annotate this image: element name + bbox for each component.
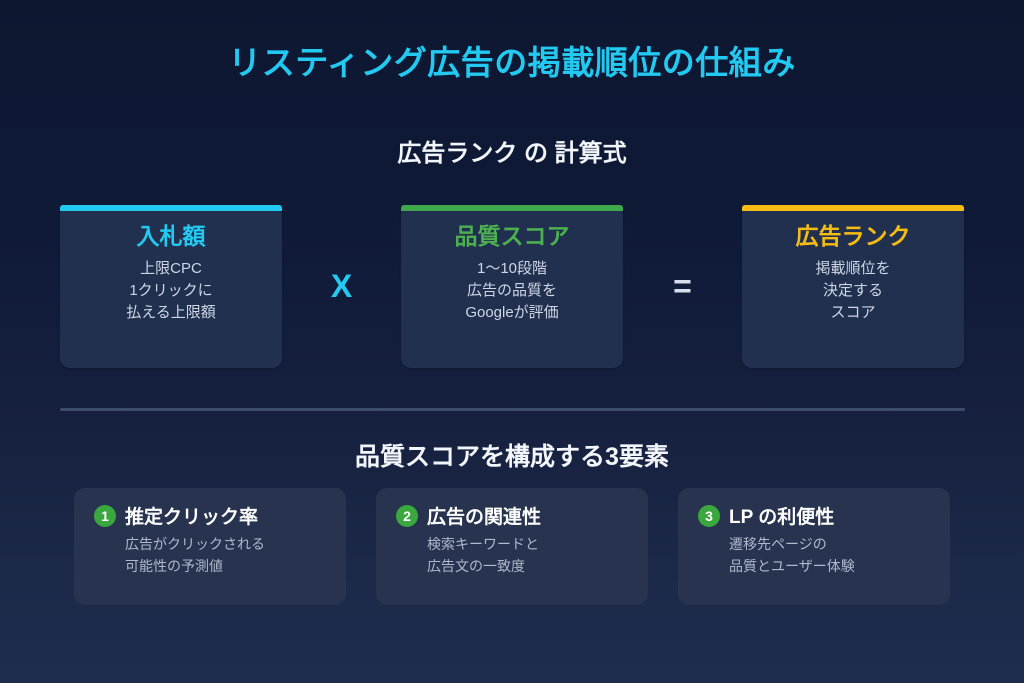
- quality-factor-card-list: 1 推定クリック率 広告がクリックされる 可能性の予測値 2 広告の関連性 検索…: [74, 488, 950, 605]
- formula-box-ad-rank-description: 掲載順位を 決定する スコア: [742, 258, 964, 324]
- formula-box-bid: 入札額 上限CPC 1クリックに 払える上限額: [60, 205, 282, 368]
- formula-box-ad-rank-accent-bar: [742, 205, 964, 211]
- quality-factor-card-landing-page-desc-line: 品質とユーザー体験: [729, 556, 930, 578]
- quality-factor-card-relevance-title: 広告の関連性: [427, 502, 541, 529]
- formula-box-quality-score-desc-line: Googleが評価: [401, 302, 623, 324]
- slide-root: リスティング広告の掲載順位の仕組み 広告ランク の 計算式 入札額 上限CPC …: [0, 0, 1024, 683]
- quality-factor-card-ctr: 1 推定クリック率 広告がクリックされる 可能性の予測値: [74, 488, 346, 605]
- formula-box-ad-rank-desc-line: 掲載順位を: [742, 258, 964, 280]
- formula-box-quality-score-description: 1〜10段階 広告の品質を Googleが評価: [401, 258, 623, 324]
- quality-factor-card-ctr-title: 推定クリック率: [125, 502, 258, 529]
- quality-factor-card-ctr-desc-line: 広告がクリックされる: [125, 534, 326, 556]
- number-badge-icon: 1: [94, 505, 116, 527]
- number-badge-icon: 2: [396, 505, 418, 527]
- quality-factor-card-relevance: 2 広告の関連性 検索キーワードと 広告文の一致度: [376, 488, 648, 605]
- formula-box-bid-heading: 入札額: [60, 222, 282, 251]
- formula-box-bid-desc-line: 1クリックに: [60, 280, 282, 302]
- quality-factor-card-relevance-header: 2 広告の関連性: [396, 502, 628, 529]
- factors-section-heading: 品質スコアを構成する3要素: [0, 437, 1024, 473]
- formula-box-bid-description: 上限CPC 1クリックに 払える上限額: [60, 258, 282, 324]
- operator-equals: =: [655, 205, 711, 368]
- number-badge-icon: 3: [698, 505, 720, 527]
- quality-factor-card-relevance-desc-line: 広告文の一致度: [427, 556, 628, 578]
- quality-factor-card-landing-page-header: 3 LP の利便性: [698, 502, 930, 529]
- quality-factor-card-ctr-desc-line: 可能性の予測値: [125, 556, 326, 578]
- formula-box-bid-desc-line: 払える上限額: [60, 302, 282, 324]
- quality-factor-card-ctr-header: 1 推定クリック率: [94, 502, 326, 529]
- quality-factor-card-ctr-description: 広告がクリックされる 可能性の予測値: [94, 534, 326, 577]
- formula-box-ad-rank-heading: 広告ランク: [742, 222, 964, 251]
- quality-factor-card-landing-page-desc-line: 遷移先ページの: [729, 534, 930, 556]
- formula-box-ad-rank-desc-line: 決定する: [742, 280, 964, 302]
- quality-factor-card-relevance-description: 検索キーワードと 広告文の一致度: [396, 534, 628, 577]
- formula-box-quality-score-desc-line: 広告の品質を: [401, 280, 623, 302]
- operator-multiply: X: [314, 205, 370, 368]
- formula-box-quality-score-accent-bar: [401, 205, 623, 211]
- section-divider: [60, 408, 965, 411]
- quality-factor-card-relevance-desc-line: 検索キーワードと: [427, 534, 628, 556]
- quality-factor-card-landing-page-title: LP の利便性: [729, 502, 834, 529]
- formula-box-quality-score: 品質スコア 1〜10段階 広告の品質を Googleが評価: [401, 205, 623, 368]
- formula-subtitle: 広告ランク の 計算式: [0, 133, 1024, 168]
- quality-factor-card-landing-page-description: 遷移先ページの 品質とユーザー体験: [698, 534, 930, 577]
- page-title: リスティング広告の掲載順位の仕組み: [0, 36, 1024, 84]
- formula-box-quality-score-heading: 品質スコア: [401, 222, 623, 251]
- formula-box-quality-score-desc-line: 1〜10段階: [401, 258, 623, 280]
- ad-rank-formula: 入札額 上限CPC 1クリックに 払える上限額 X 品質スコア 1〜10段階 広…: [60, 205, 964, 373]
- formula-box-bid-accent-bar: [60, 205, 282, 211]
- formula-box-ad-rank: 広告ランク 掲載順位を 決定する スコア: [742, 205, 964, 368]
- formula-box-ad-rank-desc-line: スコア: [742, 302, 964, 324]
- quality-factor-card-landing-page: 3 LP の利便性 遷移先ページの 品質とユーザー体験: [678, 488, 950, 605]
- formula-box-bid-desc-line: 上限CPC: [60, 258, 282, 280]
